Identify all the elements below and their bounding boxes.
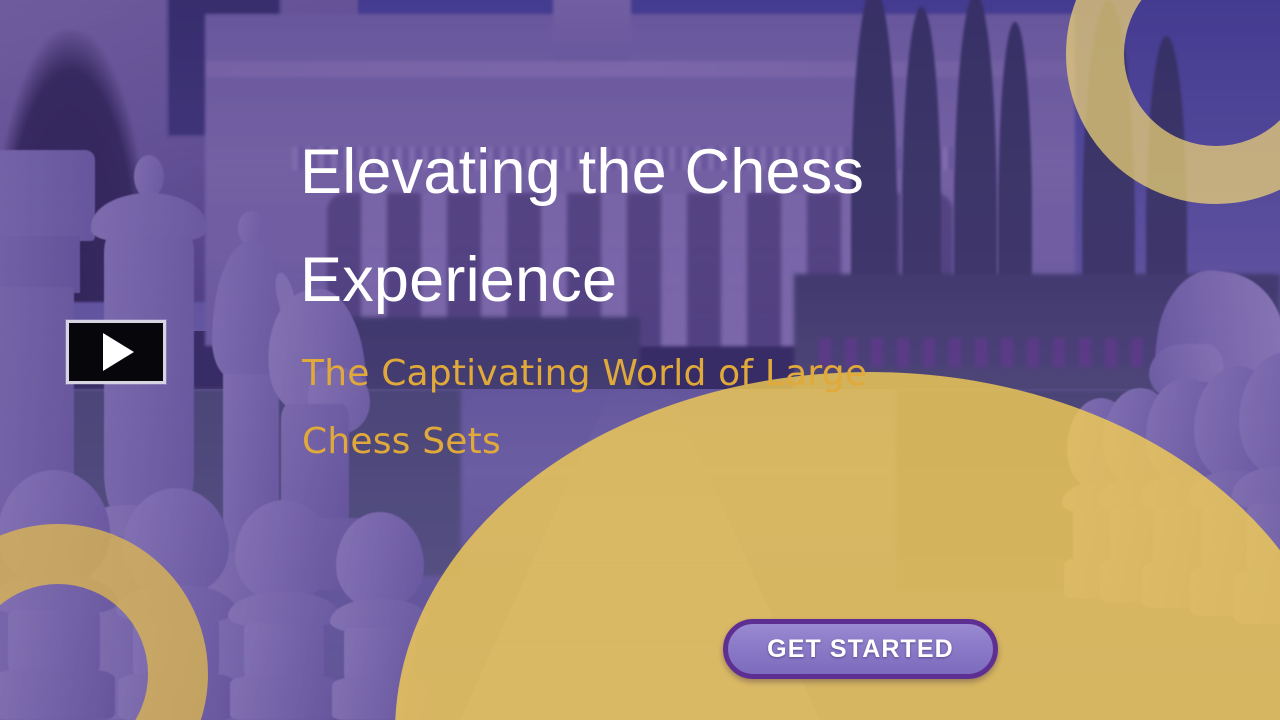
play-triangle-icon (103, 333, 134, 371)
get-started-label: GET STARTED (767, 635, 954, 664)
slide-subtitle: The Captivating World of Large Chess Set… (302, 340, 1022, 477)
presentation-slide: Elevating the Chess Experience The Capti… (0, 0, 1280, 720)
slide-title: Elevating the Chess Experience (300, 118, 1000, 335)
play-video-button[interactable] (66, 320, 166, 384)
get-started-button[interactable]: GET STARTED (723, 619, 998, 679)
slide-content: Elevating the Chess Experience The Capti… (0, 0, 1280, 720)
